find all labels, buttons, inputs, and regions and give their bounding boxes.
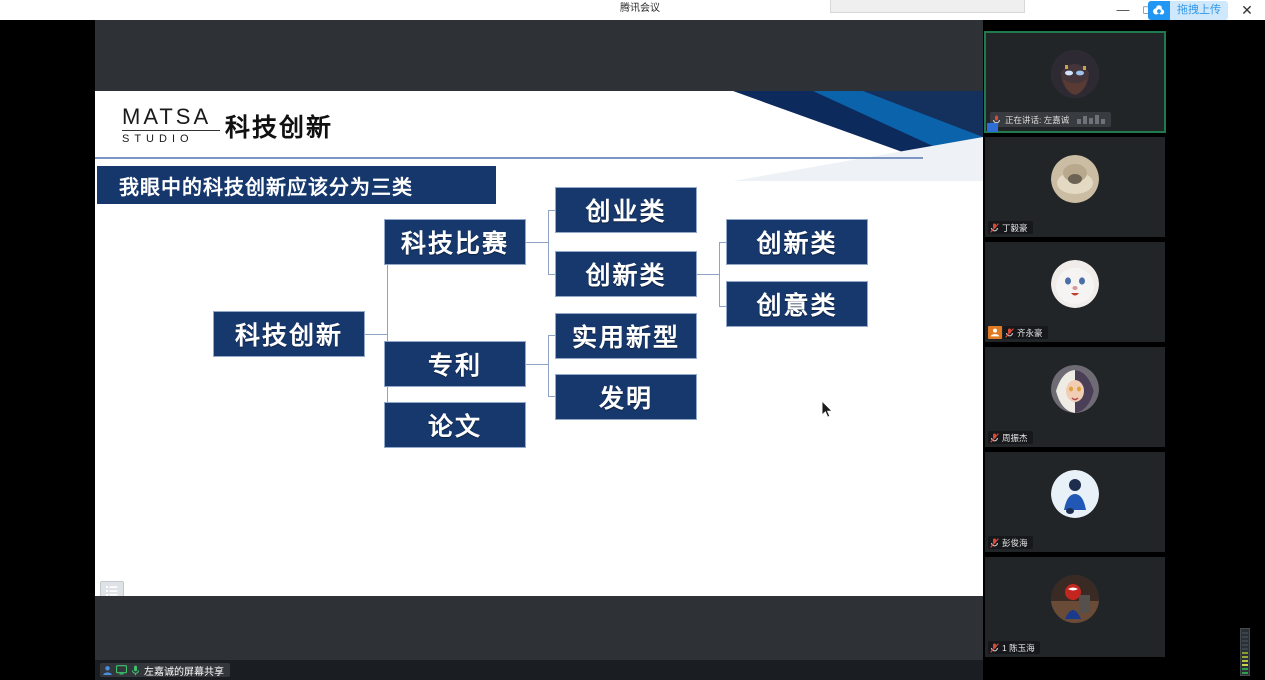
participant-name: 彭俊海 [1002,537,1028,549]
microphone-muted-icon [988,221,1001,234]
node-creativity-leaf: 创意类 [726,281,868,327]
node-innovation-mid: 创新类 [555,251,697,297]
microphone-muted-icon [988,536,1001,549]
list-menu-icon [106,586,118,596]
microphone-muted-icon [1003,326,1016,339]
name-chip: 1 陈玉海 [988,641,1040,654]
avatar [1051,155,1099,203]
minimize-button[interactable]: — [1114,3,1132,17]
cloud-upload-icon [1148,1,1170,20]
avatar [1051,50,1099,98]
participant-rail: 正在讲话: 左嘉诚 [983,20,1265,680]
node-innovation-leaf: 创新类 [726,219,868,265]
node-root: 科技创新 [213,311,365,357]
connector [719,242,720,306]
audio-wave-icon [1077,115,1105,124]
mouse-cursor [822,401,834,419]
avatar [1051,470,1099,518]
node-tech-competition: 科技比赛 [384,219,526,265]
name-chip: 丁毅豪 [988,221,1033,234]
screen-root: 腾讯会议 — ◻ 拖拽上传 ✕ [0,0,1265,680]
participant-name: 正在讲话: 左嘉诚 [1005,114,1069,126]
microphone-muted-icon [988,641,1001,654]
slide-options-button[interactable] [100,581,124,596]
avatar [1051,365,1099,413]
microphone-icon [128,663,142,677]
connector [365,334,387,335]
mindmap: 科技创新 科技比赛 专利 论文 创业类 创新类 实用新型 发明 创新类 创意类 [95,91,983,596]
connector [387,242,388,427]
name-chip: 齐永豪 [1003,326,1048,339]
person-icon [100,663,114,677]
node-utility-model: 实用新型 [555,313,697,359]
host-badge-icon [988,326,1002,339]
drag-upload-badge[interactable]: 拖拽上传 [1148,1,1228,20]
avatar [1051,575,1099,623]
participant-name: 1 陈玉海 [1002,642,1035,654]
participant-tile[interactable]: 正在讲话: 左嘉诚 [985,32,1165,132]
avatar [1051,260,1099,308]
drag-upload-label: 拖拽上传 [1170,1,1228,20]
meeting-window: MATSA STUDIO 科技创新 我眼中的科技创新应该分为三类 [95,20,1265,680]
speaking-chip: 正在讲话: 左嘉诚 [990,112,1111,127]
participant-marker [987,123,998,132]
name-chip: 彭俊海 [988,536,1033,549]
connector [526,242,548,243]
participant-name: 丁毅豪 [1002,222,1028,234]
node-invention: 发明 [555,374,697,420]
node-patent: 专利 [384,341,526,387]
node-thesis: 论文 [384,402,526,448]
node-entrepreneurship: 创业类 [555,187,697,233]
shared-screen-stage: MATSA STUDIO 科技创新 我眼中的科技创新应该分为三类 [95,20,983,660]
monitor-icon [114,663,128,677]
background-window-edge [830,0,1025,13]
participant-tile[interactable]: 1 陈玉海 [985,557,1165,657]
participant-tile[interactable]: 丁毅豪 [985,137,1165,237]
participant-tile[interactable]: 齐永豪 [985,242,1165,342]
name-chip: 周振杰 [988,431,1033,444]
connector [526,364,548,365]
screen-share-chip: 左嘉诚的屏幕共享 [100,663,230,677]
close-button[interactable]: ✕ [1238,2,1256,18]
microphone-muted-icon [988,431,1001,444]
screen-share-label: 左嘉诚的屏幕共享 [144,663,224,678]
presentation-slide: MATSA STUDIO 科技创新 我眼中的科技创新应该分为三类 [95,91,983,596]
screen-share-status-bar: 左嘉诚的屏幕共享 [95,660,983,680]
window-title-bar: 腾讯会议 — ◻ 拖拽上传 ✕ [0,0,1265,20]
window-title: 腾讯会议 [600,2,680,16]
connector [548,335,549,396]
connector [548,210,549,274]
participant-name: 周振杰 [1002,432,1028,444]
participant-tile[interactable]: 彭俊海 [985,452,1165,552]
connector [697,274,719,275]
participant-name: 齐永豪 [1017,327,1043,339]
desktop-backdrop-left [0,0,95,680]
participant-tile[interactable]: 周振杰 [985,347,1165,447]
volume-meter-icon [1240,628,1250,676]
